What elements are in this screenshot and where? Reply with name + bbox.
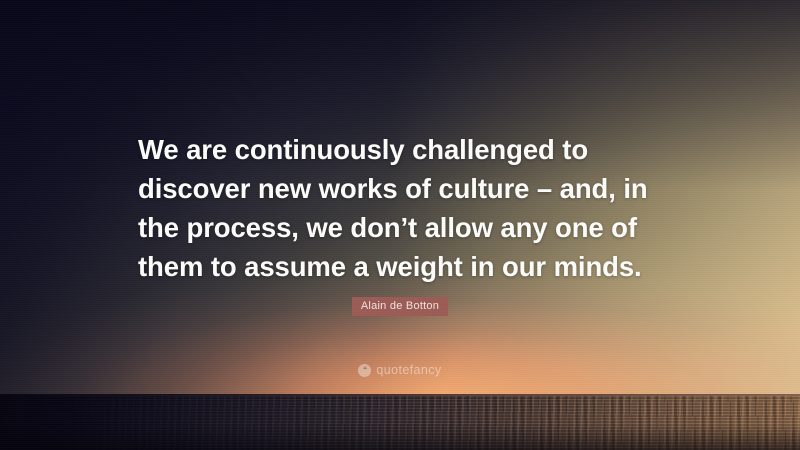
- watermark[interactable]: “ quotefancy: [0, 364, 800, 377]
- quote-text-block: We are continuously challenged to discov…: [138, 130, 684, 286]
- author-badge[interactable]: Alain de Botton: [352, 297, 448, 316]
- quote-line-1: We are continuously challenged to: [138, 130, 684, 169]
- watermark-brand: quotefancy: [376, 364, 441, 377]
- sea-shadow: [0, 424, 800, 450]
- quote-line-4: them to assume a weight in our minds.: [138, 247, 684, 286]
- sea: [0, 396, 800, 450]
- quote-line-2: discover new works of culture – and, in: [138, 169, 684, 208]
- author-attribution: Alain de Botton: [0, 297, 800, 316]
- quote-card: We are continuously challenged to discov…: [0, 0, 800, 450]
- quote-line-3: the process, we don’t allow any one of: [138, 208, 684, 247]
- quotefancy-logo-icon: “: [358, 364, 371, 377]
- quote-mark-glyph: “: [363, 366, 367, 374]
